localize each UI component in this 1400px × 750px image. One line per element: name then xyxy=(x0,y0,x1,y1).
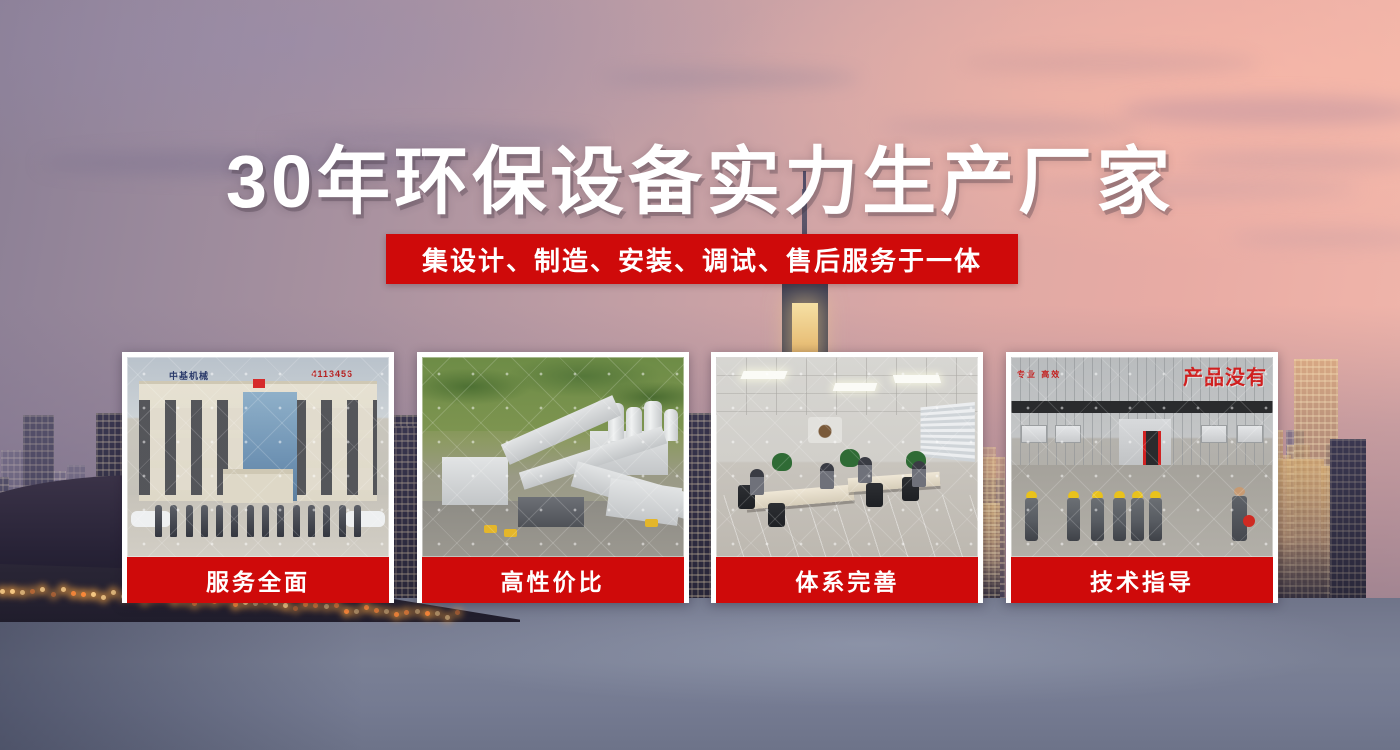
shore-light xyxy=(445,615,450,620)
shore-light xyxy=(435,611,440,616)
feature-card[interactable]: 体系完善 xyxy=(711,352,983,603)
shore-light xyxy=(91,592,96,597)
cloud xyxy=(600,70,860,86)
flag-icon xyxy=(253,379,265,388)
shore-light xyxy=(293,606,298,611)
shore-light xyxy=(364,605,369,610)
shore-light xyxy=(40,587,45,592)
feature-card-list: 中基机械 4113456 服务全面 高性价比 xyxy=(122,352,1278,603)
banner-stage: 30年环保设备实力生产厂家 集设计、制造、安装、调试、售后服务于一体 中基机械 … xyxy=(0,0,1400,750)
page-title: 30年环保设备实力生产厂家 xyxy=(0,122,1400,229)
shore-light xyxy=(313,603,318,608)
shore-light xyxy=(101,595,106,600)
card-label: 服务全面 xyxy=(127,557,389,603)
card-label: 体系完善 xyxy=(716,557,978,603)
subtitle-banner: 集设计、制造、安装、调试、售后服务于一体 xyxy=(386,234,1018,284)
red-helmet xyxy=(1243,515,1255,527)
shore-light xyxy=(111,590,116,595)
shore-light xyxy=(283,603,288,608)
shore-light xyxy=(20,590,25,595)
feature-card[interactable]: 产品没有 专业 高效 技术指导 xyxy=(1006,352,1278,603)
shore-light xyxy=(10,589,15,594)
card-photo: 中基机械 4113456 xyxy=(127,357,389,557)
cloud xyxy=(960,52,1260,74)
window-blinds xyxy=(921,402,975,462)
shore-light xyxy=(324,604,329,609)
shore-light xyxy=(334,603,339,608)
shore-light xyxy=(81,592,86,597)
card-photo xyxy=(422,357,684,557)
card-label: 技术指导 xyxy=(1011,557,1273,603)
shore-light xyxy=(61,587,66,592)
shore-light xyxy=(0,589,5,594)
shore-light xyxy=(455,610,460,615)
card-label: 高性价比 xyxy=(422,557,684,603)
shore-light xyxy=(374,608,379,613)
shore-light xyxy=(415,609,420,614)
workshop-sign: 产品没有 xyxy=(1183,361,1267,390)
building-phone-number: 4113456 xyxy=(311,369,353,379)
shore-light xyxy=(30,589,35,594)
feature-card[interactable]: 高性价比 xyxy=(417,352,689,603)
subtitle-text: 集设计、制造、安装、调试、售后服务于一体 xyxy=(422,241,982,278)
skyline-building xyxy=(1330,439,1366,605)
shore-light xyxy=(394,612,399,617)
shore-light xyxy=(354,609,359,614)
skyline-building xyxy=(1271,459,1324,605)
card-photo xyxy=(716,357,978,557)
card-photo: 产品没有 专业 高效 xyxy=(1011,357,1273,557)
building-company-sign: 中基机械 xyxy=(169,369,209,382)
shore-light xyxy=(51,592,56,597)
workshop-slogan: 专业 高效 xyxy=(1017,369,1061,380)
wall-decal xyxy=(808,417,842,443)
shore-light xyxy=(425,611,430,616)
shore-light xyxy=(384,609,389,614)
shore-light xyxy=(344,609,349,614)
shore-light xyxy=(71,591,76,596)
shore-light xyxy=(404,610,409,615)
feature-card[interactable]: 中基机械 4113456 服务全面 xyxy=(122,352,394,603)
